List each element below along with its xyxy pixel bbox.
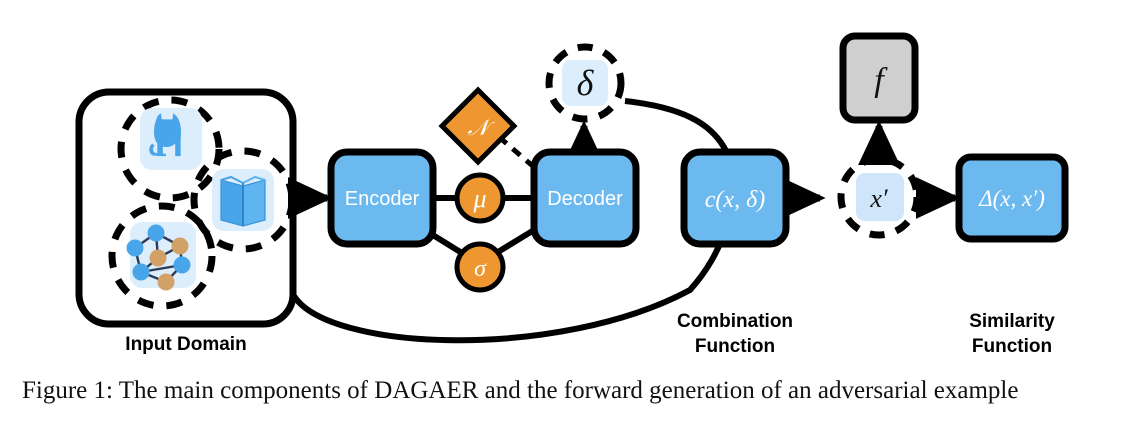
- similarity-function-node[interactable]: Δ(x, x′): [959, 157, 1065, 239]
- input-domain-group[interactable]: [79, 92, 293, 324]
- combination-caption-line1: Combination: [677, 311, 793, 332]
- similarity-caption-line1: Similarity: [969, 311, 1055, 332]
- book-icon: [221, 177, 265, 226]
- edge-sigma-to-decoder: [498, 230, 534, 252]
- dagaer-architecture-diagram: Encoder μ σ 𝒩 Decoder δ: [0, 0, 1140, 380]
- decoder-node[interactable]: Decoder: [534, 152, 636, 244]
- classifier-f-node[interactable]: f: [843, 36, 915, 120]
- normal-distribution-node[interactable]: 𝒩: [442, 90, 514, 162]
- x-prime-label: x′: [869, 184, 888, 213]
- edge-input-to-combination: [294, 238, 722, 340]
- delta-label: δ: [577, 63, 595, 103]
- encoder-label: Encoder: [345, 188, 420, 210]
- combination-label: c(x, δ): [705, 187, 765, 213]
- figure-caption: Figure 1: The main components of DAGAER …: [22, 376, 1140, 406]
- sigma-node[interactable]: σ: [457, 244, 503, 290]
- similarity-caption-line2: Function: [972, 336, 1052, 357]
- mu-label: μ: [472, 184, 486, 213]
- edge-delta-to-combination: [625, 101, 728, 155]
- combination-function-node[interactable]: c(x, δ): [684, 152, 786, 244]
- delta-node[interactable]: δ: [549, 47, 621, 119]
- decoder-label: Decoder: [547, 188, 623, 210]
- x-prime-node[interactable]: x′: [841, 159, 917, 235]
- combination-caption-line2: Function: [695, 336, 775, 357]
- encoder-node[interactable]: Encoder: [331, 152, 433, 244]
- figure-caption-wrap: Figure 1: The main components of DAGAER …: [0, 374, 1140, 441]
- similarity-label: Δ(x, x′): [978, 186, 1045, 211]
- mu-node[interactable]: μ: [457, 175, 503, 221]
- input-domain-caption: Input Domain: [125, 334, 246, 355]
- figure-1: Encoder μ σ 𝒩 Decoder δ: [0, 0, 1140, 441]
- sigma-label: σ: [474, 256, 487, 282]
